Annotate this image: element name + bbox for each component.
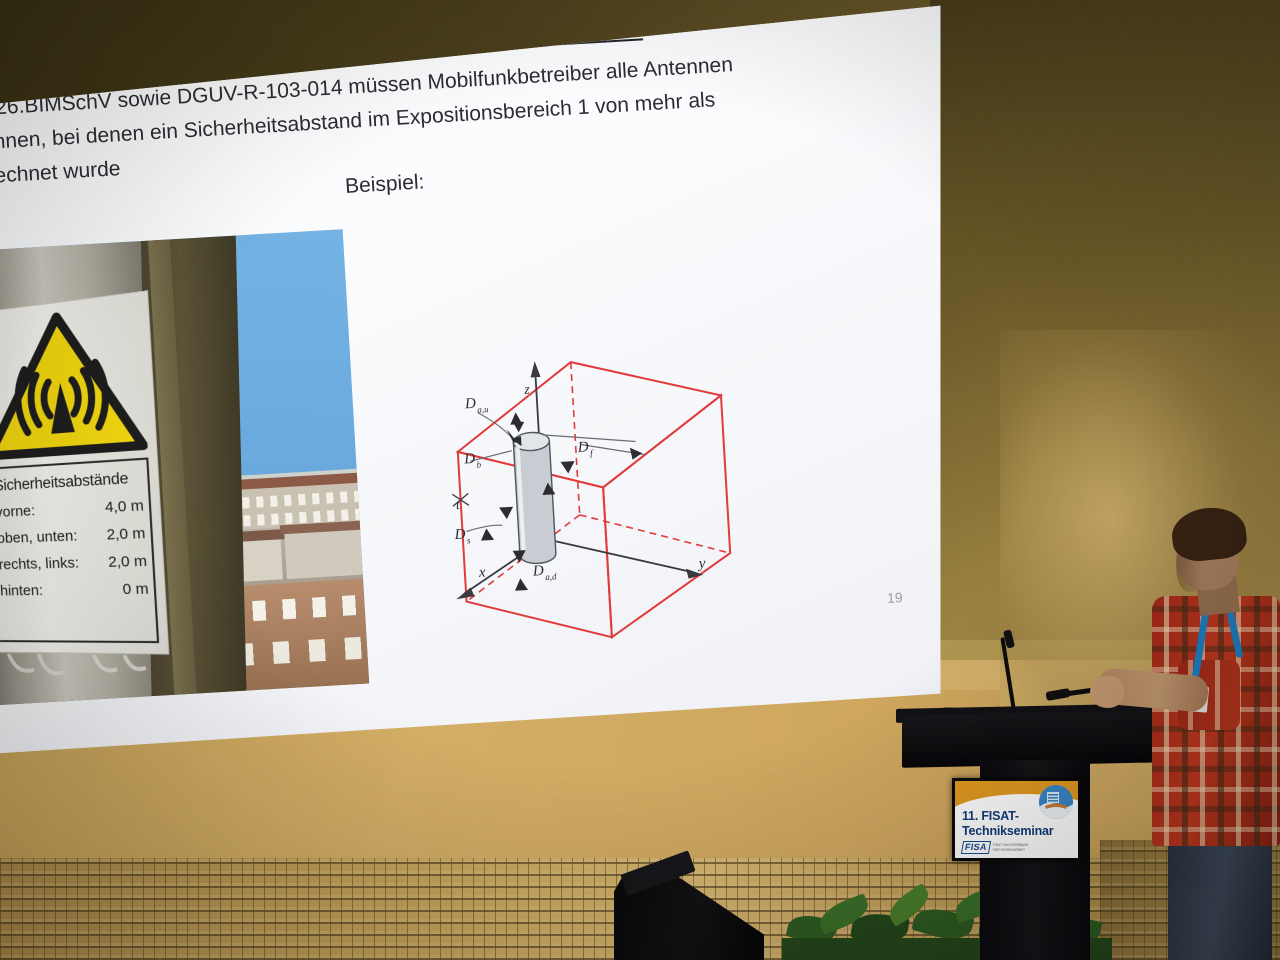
lectern-sign-title: 11. FISAT- Technikseminar — [962, 809, 1053, 839]
projection-screen: Sicherheitsabstände zu Mobilfunkantennen… — [0, 0, 960, 770]
diagram-label-d-b: D — [463, 451, 476, 468]
diagram-label-d-s: D — [453, 527, 466, 544]
diagram-axis-z: z — [523, 383, 531, 398]
lectern-display-sign: 11. FISAT- Technikseminar FISA FISAT FAC… — [952, 778, 1081, 861]
antenna-mast-photo: Sicherheitsabstände vorne: 4,0 m oben, u… — [0, 229, 369, 707]
radiation-warning-icon — [0, 301, 148, 462]
conference-room-scene: Sicherheitsabstände zu Mobilfunkantennen… — [0, 0, 1280, 960]
lectern-sign-title-line-1: 11. FISAT- — [962, 809, 1053, 824]
safety-distance-value: 4,0 m — [104, 492, 144, 521]
safety-distance-label: hinten: — [0, 577, 44, 604]
safety-distance-label: rechts, links: — [0, 549, 80, 578]
slide-number: 19 — [887, 589, 903, 606]
safety-distance-value: 2,0 m — [106, 520, 146, 549]
safety-distance-row: oben, unten: 2,0 m — [0, 520, 146, 552]
safety-distance-label: vorne: — [0, 497, 36, 525]
fisat-logo-subtext: FISAT FACHVERBAND FÜR HÖHENARBEIT — [993, 843, 1029, 852]
diagram-label-d-b-sub: b — [476, 460, 482, 470]
presenter-face-shadow — [1176, 540, 1202, 592]
fisat-logo: FISA FISAT FACHVERBAND FÜR HÖHENARBEIT — [962, 841, 1028, 854]
fisat-logo-mark: FISA — [961, 841, 991, 854]
diagram-label-d-au: D — [464, 396, 477, 413]
safety-distance-row: hinten: 0 m — [0, 575, 149, 604]
diagram-label-d-ad: D — [531, 563, 544, 580]
safety-distance-value: 2,0 m — [107, 547, 147, 576]
lectern-sign-face: 11. FISAT- Technikseminar FISA FISAT FAC… — [955, 781, 1078, 858]
lectern-sign-title-line-2: Technikseminar — [962, 824, 1053, 839]
photo-building — [284, 527, 363, 579]
diagram-label-d-f: D — [576, 439, 589, 456]
diagram-label-d-au-sub: a,u — [477, 404, 489, 415]
safety-distance-warning-sign: Sicherheitsabstände vorne: 4,0 m oben, u… — [0, 290, 169, 654]
presenter-legs — [1168, 830, 1272, 960]
presentation-slide: Sicherheitsabstände zu Mobilfunkantennen… — [0, 0, 1012, 774]
diagram-label-d-f-sub: f — [590, 448, 595, 458]
safety-zone-3d-diagram: D a,u D b D s D f D a,d t x y z — [430, 335, 787, 654]
presenter-hand — [1090, 676, 1124, 708]
slide-example-label: Beispiel: — [344, 170, 425, 199]
diagram-axis-x: x — [477, 564, 486, 580]
safety-distance-value: 0 m — [122, 575, 150, 603]
diagram-label-d-ad-sub: a,d — [545, 571, 557, 582]
mast-cables — [1, 654, 173, 697]
safety-distance-table: Sicherheitsabstände vorne: 4,0 m oben, u… — [0, 457, 159, 643]
diagram-axis-y: y — [696, 556, 706, 572]
safety-distance-label: oben, unten: — [0, 522, 78, 551]
safety-distance-row: rechts, links: 2,0 m — [0, 547, 148, 578]
diagram-label-d-s-sub: s — [467, 535, 472, 545]
